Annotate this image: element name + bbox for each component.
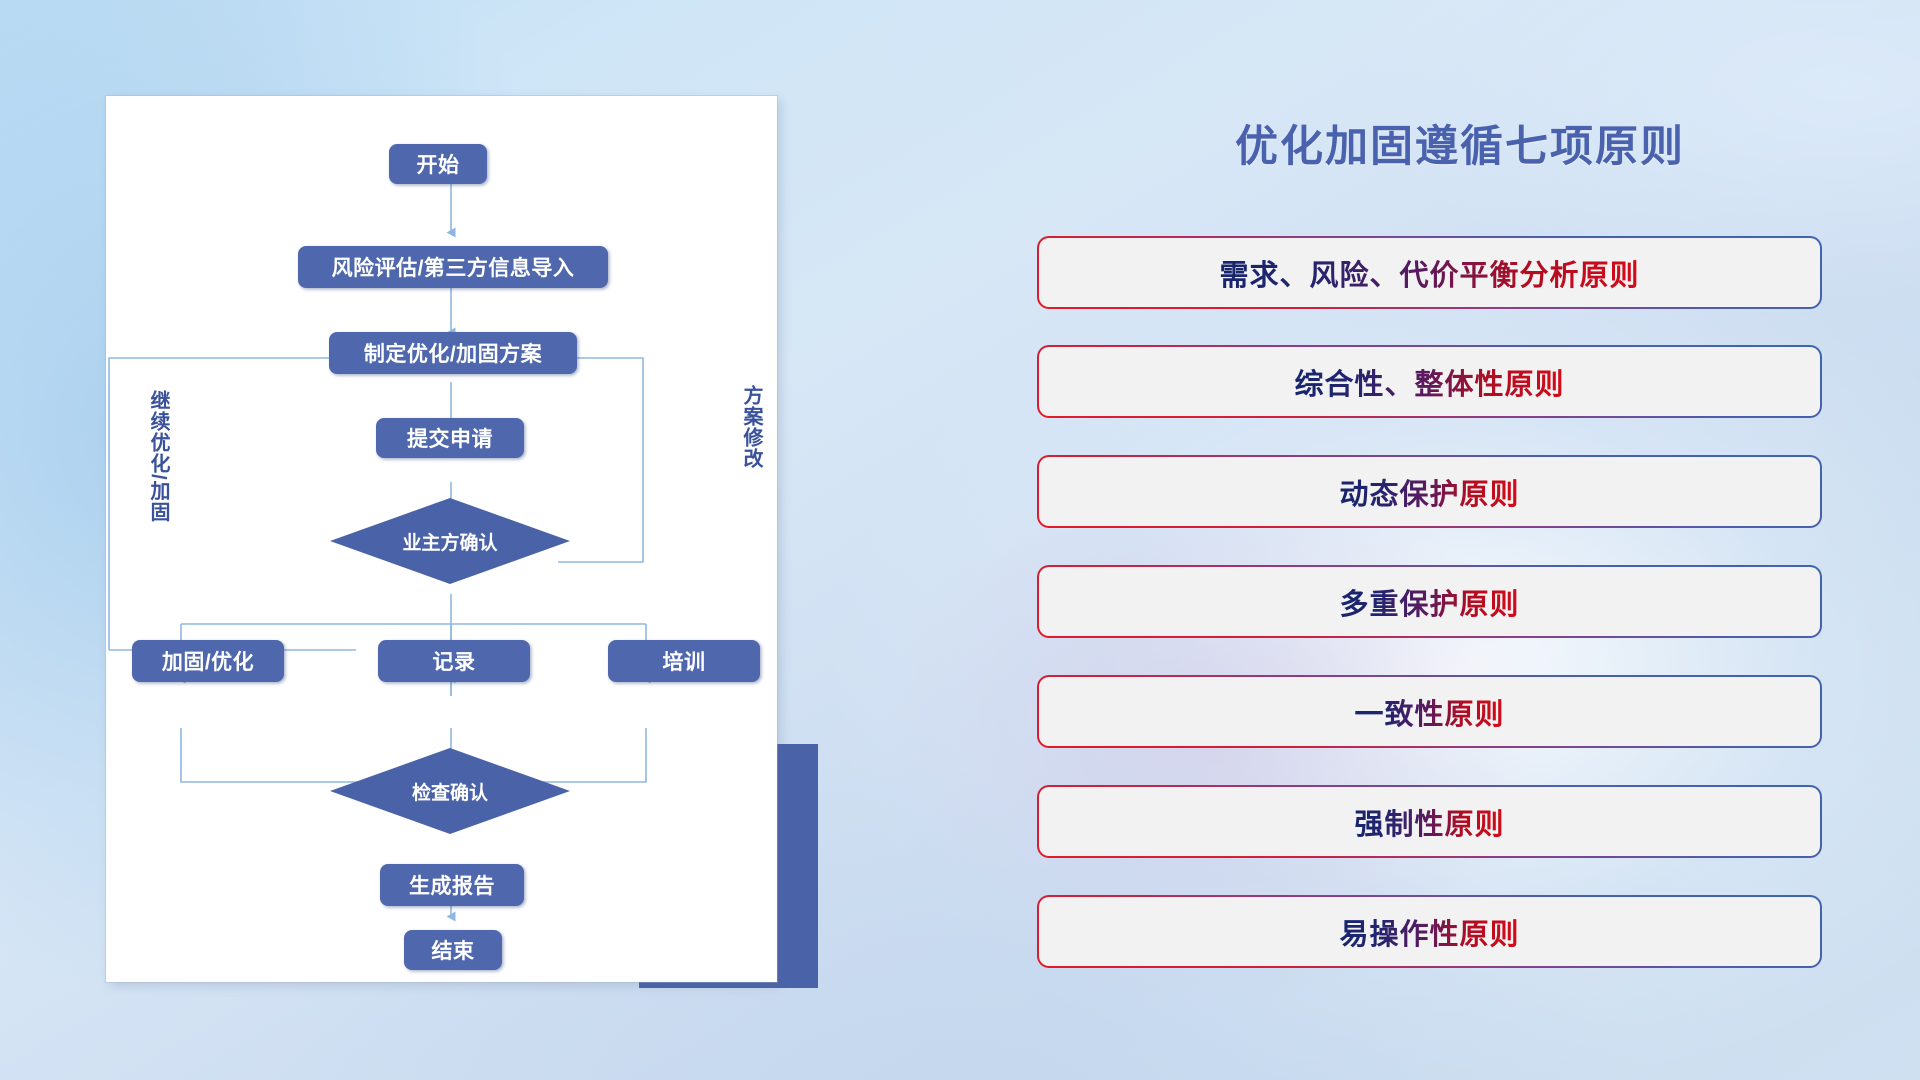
principle-item[interactable]: 需求、风险、代价平衡分析原则 <box>1037 236 1822 309</box>
flow-node-end-label: 结束 <box>432 935 475 965</box>
principle-item[interactable]: 动态保护原则 <box>1037 455 1822 528</box>
flow-node-record[interactable]: 记录 <box>378 640 530 682</box>
flow-node-training[interactable]: 培训 <box>608 640 760 682</box>
principle-label: 多重保护原则 <box>1339 581 1519 623</box>
flow-node-reinforce[interactable]: 加固/优化 <box>132 640 284 682</box>
principle-item[interactable]: 多重保护原则 <box>1037 565 1822 638</box>
principle-label: 强制性原则 <box>1354 801 1504 843</box>
flow-node-plan[interactable]: 制定优化/加固方案 <box>329 332 577 374</box>
flow-node-training-label: 培训 <box>663 646 706 676</box>
principle-label: 综合性、整体性原则 <box>1294 361 1564 403</box>
principle-label: 一致性原则 <box>1354 691 1504 733</box>
flow-node-check-confirm-label: 检查确认 <box>412 778 488 805</box>
flow-edge-label-continue-optimize: 继续优化/加固 <box>144 390 173 523</box>
principle-label: 易操作性原则 <box>1339 911 1519 953</box>
flow-node-start[interactable]: 开始 <box>389 144 487 184</box>
flow-node-submit-application-label: 提交申请 <box>407 423 493 453</box>
principle-label: 动态保护原则 <box>1339 471 1519 513</box>
flow-node-record-label: 记录 <box>433 646 476 676</box>
flow-node-generate-report[interactable]: 生成报告 <box>380 864 524 906</box>
flow-node-owner-confirm-label: 业主方确认 <box>402 528 497 555</box>
flow-node-start-label: 开始 <box>417 149 460 179</box>
flow-node-end[interactable]: 结束 <box>404 930 502 970</box>
panel-title: 优化加固遵循七项原则 <box>1020 112 1900 174</box>
flow-node-risk-assessment[interactable]: 风险评估/第三方信息导入 <box>298 246 608 288</box>
flow-node-generate-report-label: 生成报告 <box>409 870 495 900</box>
principle-item[interactable]: 一致性原则 <box>1037 675 1822 748</box>
flow-node-risk-assessment-label: 风险评估/第三方信息导入 <box>332 252 575 282</box>
principles-panel: 优化加固遵循七项原则 需求、风险、代价平衡分析原则 综合性、整体性原则 动态保护… <box>1020 0 1920 1080</box>
principle-item[interactable]: 综合性、整体性原则 <box>1037 345 1822 418</box>
flow-node-plan-label: 制定优化/加固方案 <box>364 338 542 368</box>
flow-edge-label-plan-revision: 方案修改 <box>737 385 766 469</box>
principle-item[interactable]: 强制性原则 <box>1037 785 1822 858</box>
principle-label: 需求、风险、代价平衡分析原则 <box>1219 252 1639 294</box>
flow-node-reinforce-label: 加固/优化 <box>162 646 254 676</box>
flow-node-submit-application[interactable]: 提交申请 <box>376 418 524 458</box>
principle-item[interactable]: 易操作性原则 <box>1037 895 1822 968</box>
